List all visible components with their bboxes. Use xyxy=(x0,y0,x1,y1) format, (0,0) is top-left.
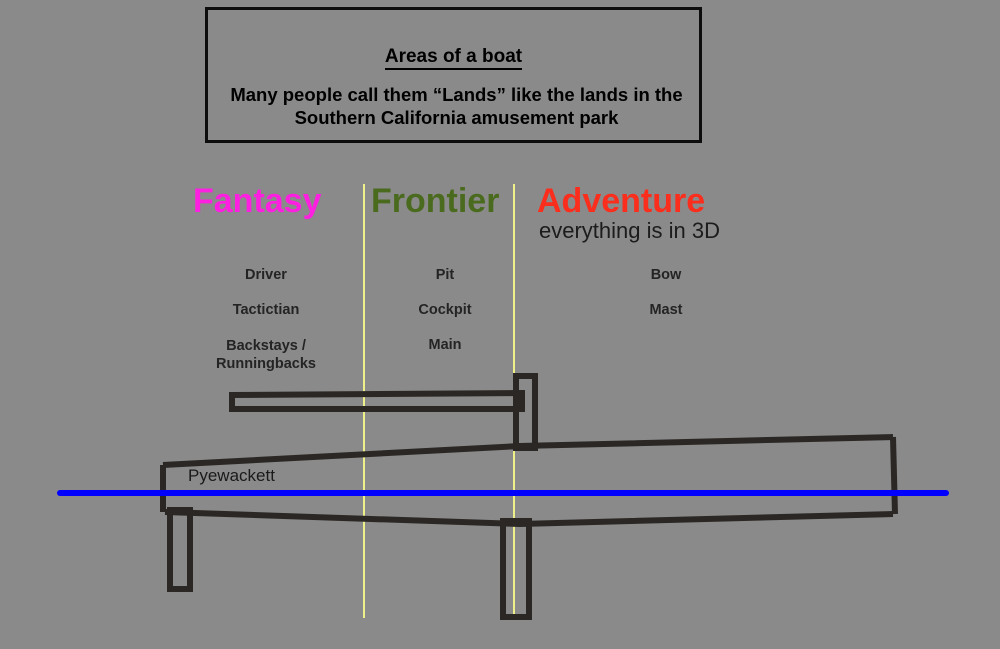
boat-name-label: Pyewackett xyxy=(188,466,275,486)
boom-shape xyxy=(232,393,522,409)
diagram-canvas: Areas of a boat Many people call them “L… xyxy=(0,0,1000,649)
keel-shape xyxy=(503,521,529,617)
mast-shape xyxy=(516,376,535,448)
boat-drawing xyxy=(0,0,1000,649)
rudder-shape xyxy=(170,510,190,589)
bow-line xyxy=(893,437,895,514)
